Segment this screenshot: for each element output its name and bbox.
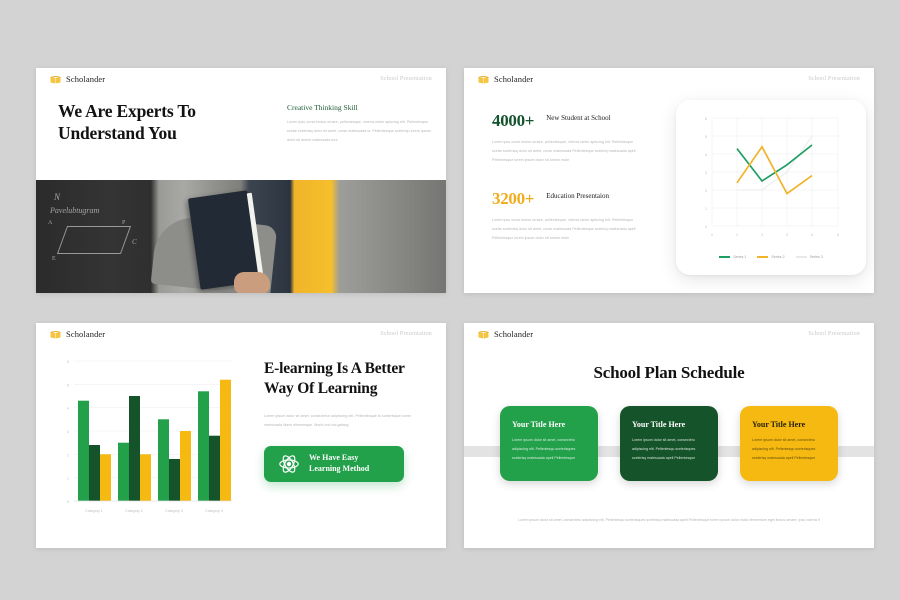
svg-text:1: 1 [705,207,707,211]
slide-4-footer: Lorem ipsum dolor sit amet, consectetu a… [490,518,848,524]
slide-deck: Scholander School Presentation We Are Ex… [0,0,900,600]
svg-text:2: 2 [67,453,69,457]
slide-1[interactable]: Scholander School Presentation We Are Ex… [36,68,446,293]
schedule-card[interactable]: Your Title Here Lorem ipsum dolor sit am… [740,406,838,481]
slide-1-topbar: Scholander School Presentation [36,68,446,90]
brand-logo: Scholander [50,74,105,84]
legend-swatch [719,256,730,258]
slide-1-paragraph: Lorem ipsu corse lectus ornare, pellente… [287,118,432,144]
brand-name: Scholander [66,74,105,84]
legend-label: Series 1 [733,255,746,259]
person-hand [234,272,270,293]
svg-text:3: 3 [705,171,707,175]
brand-name: Scholander [494,329,533,339]
slide-1-heading-col: We Are Experts To Understand You [58,100,273,180]
bar-chart[interactable]: 01 23 45 6 [52,351,244,531]
learning-method-button[interactable]: We Have Easy Learning Method [264,446,404,482]
legend-item[interactable]: Series 2 [757,255,784,259]
chalk-equation-2: Pavelubtugram [50,206,99,215]
slide-2[interactable]: Scholander School Presentation 4000+ New… [464,68,874,293]
legend-swatch [757,256,768,258]
slide-3-content: E-learning Is A Better Way Of Learning L… [264,359,432,482]
svg-text:2: 2 [705,189,707,193]
open-book-icon [50,75,61,84]
card-body: Lorem ipsum dolor sit amet, consectetu a… [632,436,706,462]
slide-tagline: School Presentation [808,331,860,337]
svg-text:Category 4: Category 4 [205,509,223,513]
chalk-label-c: C [132,238,137,246]
svg-text:4: 4 [705,153,707,157]
slide-tagline: School Presentation [808,76,860,82]
cta-line-1: We Have Easy [309,453,369,464]
chalk-label-a: A [48,220,52,226]
chalk-label-e: E [52,256,56,262]
legend-label: Series 3 [810,255,823,259]
open-book-icon [50,330,61,339]
schedule-card[interactable]: Your Title Here Lorem ipsum dolor sit am… [500,406,598,481]
atom-icon [278,453,300,475]
brand-logo: Scholander [478,329,533,339]
svg-text:5: 5 [67,383,69,387]
line-chart-card[interactable]: 01 23 45 6 01 23 45 [676,100,866,275]
card-title: Your Title Here [752,420,826,429]
slide-4-topbar: Scholander School Presentation [464,323,874,345]
stat-value: 4000+ [492,112,534,129]
slide-tagline: School Presentation [380,331,432,337]
chalk-parallelogram [57,226,131,254]
open-book-icon [478,330,489,339]
brand-name: Scholander [494,74,533,84]
stat-label: Education Presentaion [546,190,609,201]
cta-line-2: Learning Method [309,464,369,475]
slide-tagline: School Presentation [380,76,432,82]
spacer [492,164,642,190]
stat-item-presentations: 3200+ Education Presentaion [492,190,642,207]
slide-2-topbar: Scholander School Presentation [464,68,874,90]
svg-text:4: 4 [811,233,813,237]
slide-1-content: We Are Experts To Understand You Creativ… [36,90,446,180]
line-chart: 01 23 45 6 01 23 45 [676,100,866,250]
svg-text:Category 3: Category 3 [165,509,183,513]
cta-label-group: We Have Easy Learning Method [309,453,369,475]
stat-value: 3200+ [492,190,534,207]
stat-paragraph: Lorem ipsu corse lectus ornare, pellente… [492,138,637,164]
brand-name: Scholander [66,329,105,339]
slide-3-topbar: Scholander School Presentation [36,323,446,345]
legend-item[interactable]: Series 1 [719,255,746,259]
slide-4[interactable]: Scholander School Presentation School Pl… [464,323,874,548]
svg-text:5: 5 [705,135,707,139]
card-body: Lorem ipsum dolor sit amet, consectetu a… [752,436,826,462]
svg-text:5: 5 [837,233,839,237]
slide-3[interactable]: Scholander School Presentation 01 23 [36,323,446,548]
svg-text:0: 0 [67,500,69,504]
card-body: Lorem ipsum dolor sit amet, consectetu a… [512,436,586,462]
slide-1-text-col: Creative Thinking Skill Lorem ipsu corse… [273,100,432,180]
legend-swatch [796,256,807,258]
svg-text:1: 1 [736,233,738,237]
card-title: Your Title Here [512,420,586,429]
page-title: E-learning Is A Better Way Of Learning [264,359,432,399]
page-title: We Are Experts To Understand You [58,100,273,145]
legend-label: Series 2 [771,255,784,259]
page-title: School Plan Schedule [464,363,874,383]
legend-item[interactable]: Series 3 [796,255,823,259]
svg-text:4: 4 [67,407,69,411]
svg-text:0: 0 [705,225,707,229]
stat-item-students: 4000+ New Student at School [492,112,642,129]
schedule-card-list: Your Title Here Lorem ipsum dolor sit am… [464,406,874,481]
brand-logo: Scholander [478,74,533,84]
svg-text:6: 6 [67,360,69,364]
chalk-equation-1: N [54,192,61,202]
svg-text:Category 1: Category 1 [85,509,103,513]
svg-text:Category 2: Category 2 [125,509,143,513]
hero-photo: N Pavelubtugram P A E C [36,180,446,293]
chart-legend: Series 1 Series 2 Series 3 [676,255,866,259]
brand-logo: Scholander [50,329,105,339]
open-book-icon [478,75,489,84]
slide-3-paragraph: Lorem ipsum dolor sit amet, consectetur … [264,412,424,430]
statistics-block: 4000+ New Student at School Lorem ipsu c… [492,112,642,243]
svg-text:0: 0 [711,233,713,237]
svg-text:3: 3 [67,430,69,434]
svg-text:6: 6 [705,117,707,121]
stat-label: New Student at School [546,112,610,123]
stat-paragraph: Lorem ipsu corse lectus ornare, pellente… [492,216,637,242]
card-title: Your Title Here [632,420,706,429]
svg-text:1: 1 [67,477,69,481]
svg-text:2: 2 [761,233,763,237]
schedule-card[interactable]: Your Title Here Lorem ipsum dolor sit am… [620,406,718,481]
slide-1-subtitle: Creative Thinking Skill [287,103,432,112]
svg-text:3: 3 [786,233,788,237]
